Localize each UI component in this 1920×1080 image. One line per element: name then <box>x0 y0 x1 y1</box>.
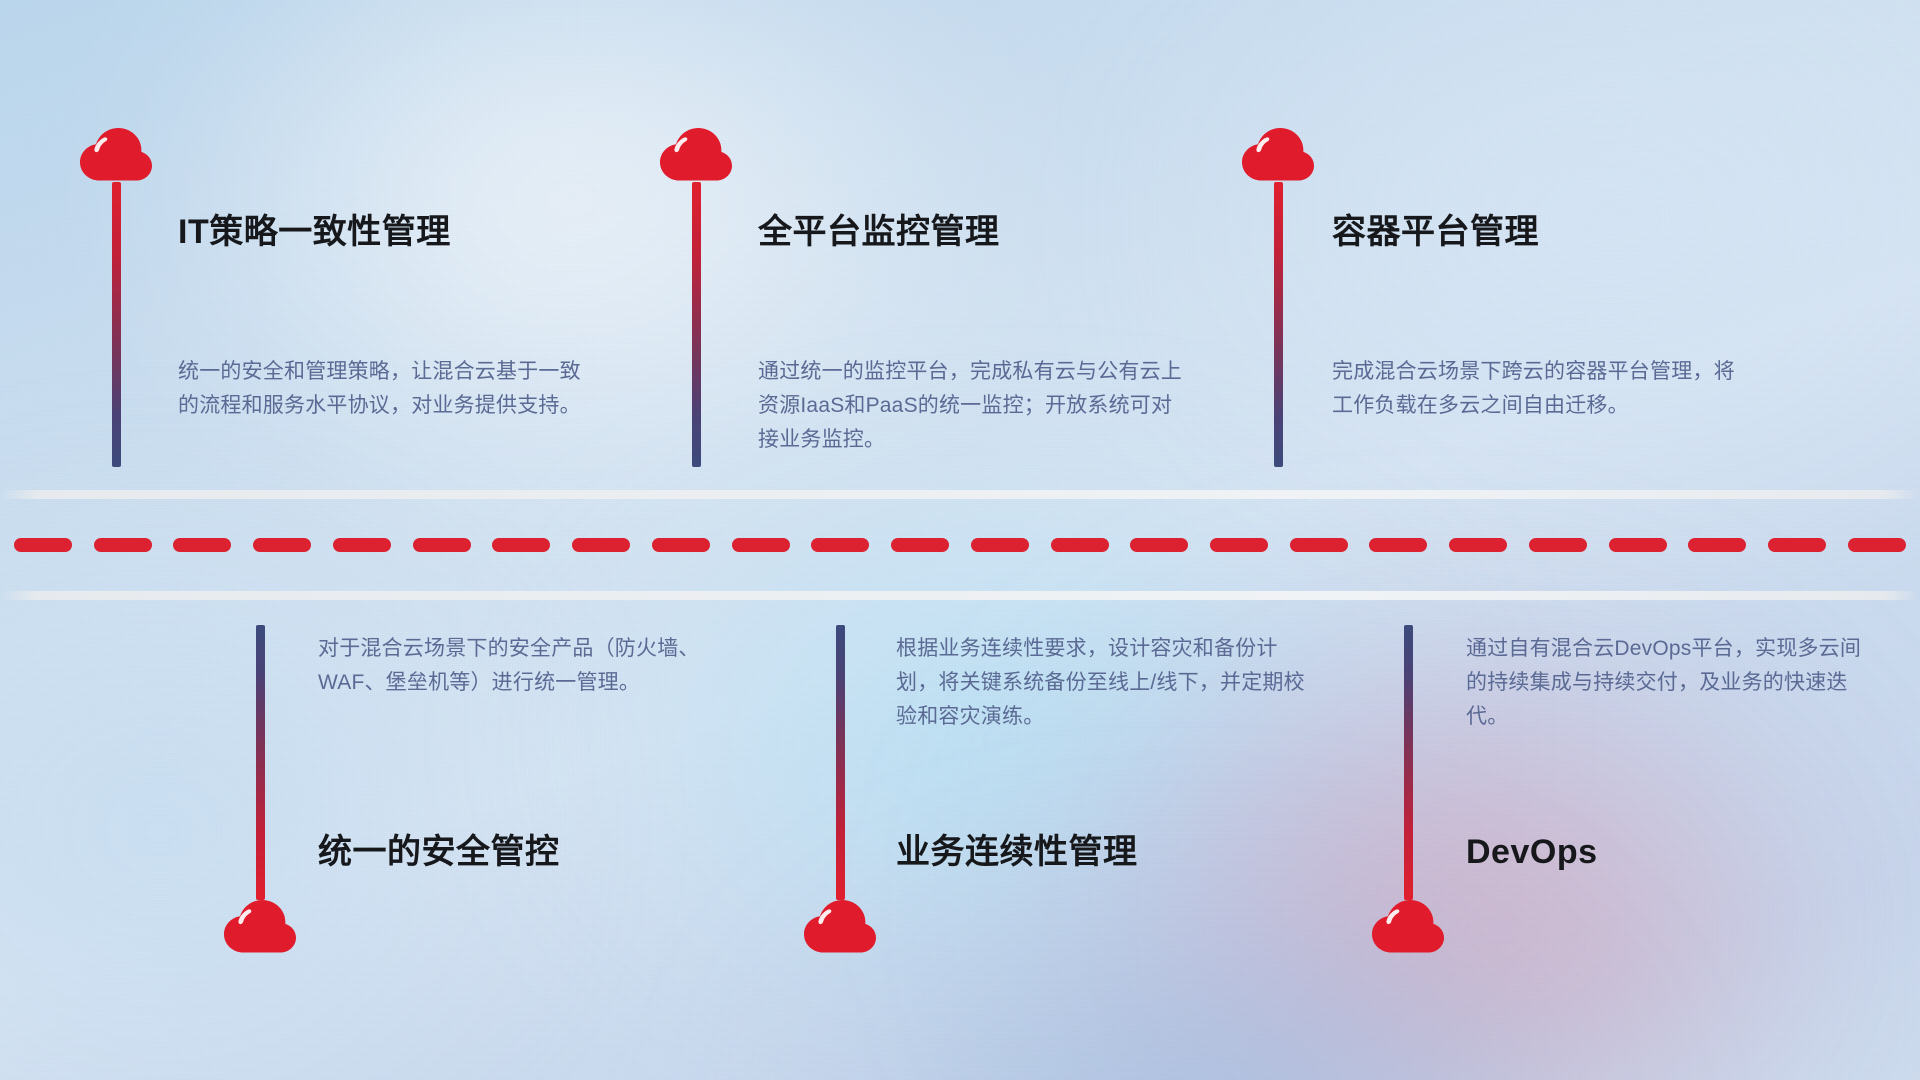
node-description: 通过自有混合云DevOps平台，实现多云间的持续集成与持续交付，及业务的快速迭代… <box>1466 632 1876 734</box>
cloud-icon <box>1242 128 1314 182</box>
top-row: IT策略一致性管理 统一的安全和管理策略，让混合云基于一致的流程和服务水平协议，… <box>0 0 1920 490</box>
node-description: 对于混合云场景下的安全产品（防火墙、WAF、堡垒机等）进行统一管理。 <box>318 632 736 700</box>
divider-dash <box>1130 538 1188 552</box>
divider-dash <box>1290 538 1348 552</box>
divider-dash <box>1210 538 1268 552</box>
divider-dash <box>14 538 72 552</box>
divider-dash <box>971 538 1029 552</box>
node-description: 根据业务连续性要求，设计容灾和备份计划，将关键系统备份至线上/线下，并定期校验和… <box>896 632 1316 734</box>
divider-dash <box>652 538 710 552</box>
divider-dash <box>1768 538 1826 552</box>
cloud-icon <box>224 900 296 954</box>
divider-dash <box>1609 538 1667 552</box>
node-title: IT策略一致性管理 <box>178 212 451 253</box>
divider-dash <box>732 538 790 552</box>
connector-stem <box>256 625 265 900</box>
divider-dash <box>1529 538 1587 552</box>
node-description: 完成混合云场景下跨云的容器平台管理，将工作负载在多云之间自由迁移。 <box>1332 355 1752 423</box>
divider-dash <box>1369 538 1427 552</box>
divider-dash <box>173 538 231 552</box>
divider-dash <box>413 538 471 552</box>
cloud-icon <box>660 128 732 182</box>
node-description: 统一的安全和管理策略，让混合云基于一致的流程和服务水平协议，对业务提供支持。 <box>178 355 598 423</box>
cloud-icon <box>80 128 152 182</box>
divider-band <box>0 490 1920 600</box>
divider-dash <box>811 538 869 552</box>
divider-dash <box>1848 538 1906 552</box>
node-title: 业务连续性管理 <box>896 832 1138 873</box>
divider-dash <box>253 538 311 552</box>
bottom-row: 对于混合云场景下的安全产品（防火墙、WAF、堡垒机等）进行统一管理。 统一的安全… <box>0 600 1920 1080</box>
connector-stem <box>112 182 121 467</box>
divider-dash <box>333 538 391 552</box>
divider-dash <box>572 538 630 552</box>
divider-dash <box>94 538 152 552</box>
divider-dash <box>891 538 949 552</box>
connector-stem <box>1404 625 1413 900</box>
divider-dash <box>1688 538 1746 552</box>
node-title: 容器平台管理 <box>1332 212 1539 253</box>
node-title: DevOps <box>1466 832 1598 873</box>
node-title: 全平台监控管理 <box>758 212 1000 253</box>
cloud-icon <box>804 900 876 954</box>
connector-stem <box>692 182 701 467</box>
connector-stem <box>836 625 845 900</box>
divider-dash <box>492 538 550 552</box>
node-title: 统一的安全管控 <box>318 832 560 873</box>
divider-dashed-line <box>0 538 1920 552</box>
infographic-canvas: IT策略一致性管理 统一的安全和管理策略，让混合云基于一致的流程和服务水平协议，… <box>0 0 1920 1080</box>
node-description: 通过统一的监控平台，完成私有云与公有云上资源IaaS和PaaS的统一监控；开放系… <box>758 355 1188 457</box>
connector-stem <box>1274 182 1283 467</box>
divider-dash <box>1449 538 1507 552</box>
divider-rule-top <box>0 490 1920 499</box>
cloud-icon <box>1372 900 1444 954</box>
divider-dash <box>1051 538 1109 552</box>
divider-rule-bottom <box>0 591 1920 600</box>
